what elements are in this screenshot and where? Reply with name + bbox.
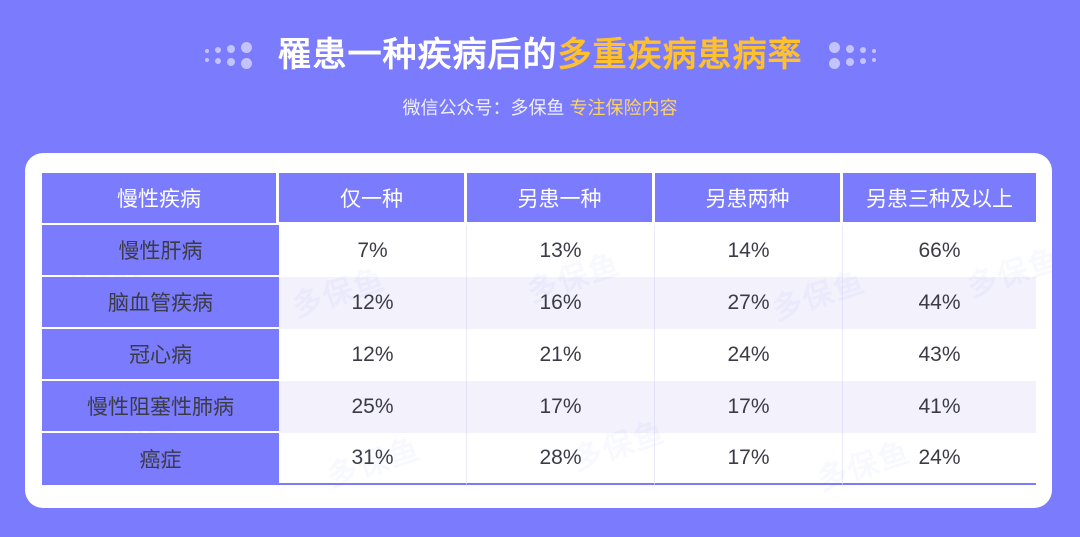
- column-header-disease: 慢性疾病: [42, 173, 279, 225]
- page-title-main: 罹患一种疾病后的: [278, 36, 558, 74]
- table-cell: 14%: [655, 225, 843, 277]
- column-header-plus-two: 另患两种: [655, 173, 843, 225]
- table-cell: 13%: [467, 225, 655, 277]
- row-label: 慢性肝病: [42, 225, 279, 277]
- infographic-page: { "header": { "title_main": "罹患一种疾病后的", …: [0, 0, 1080, 537]
- prevalence-table: 慢性疾病 仅一种 另患一种 另患两种 另患三种及以上 慢性肝病 7% 13% 1…: [42, 173, 1036, 485]
- table-cell: 24%: [843, 433, 1036, 485]
- table-cell: 21%: [467, 329, 655, 381]
- row-label: 脑血管疾病: [42, 277, 279, 329]
- table-cell: 7%: [279, 225, 467, 277]
- decorative-dots-left-icon: [205, 42, 252, 69]
- table-cell: 27%: [655, 277, 843, 329]
- row-label: 冠心病: [42, 329, 279, 381]
- row-label: 癌症: [42, 433, 279, 485]
- table-cell: 31%: [279, 433, 467, 485]
- table-row: 慢性肝病 7% 13% 14% 66%: [42, 225, 1036, 277]
- page-title: 罹患一种疾病后的多重疾病患病率: [278, 33, 803, 77]
- column-header-plus-one: 另患一种: [467, 173, 655, 225]
- table-cell: 17%: [655, 381, 843, 433]
- table-cell: 12%: [279, 277, 467, 329]
- decorative-dots-right-icon: [829, 42, 876, 69]
- column-header-plus-three-or-more: 另患三种及以上: [843, 173, 1036, 225]
- table-cell: 66%: [843, 225, 1036, 277]
- table-cell: 41%: [843, 381, 1036, 433]
- page-title-accent: 多重疾病患病率: [558, 36, 803, 74]
- subtitle-tagline: 专注保险内容: [570, 98, 678, 118]
- table-row: 慢性阻塞性肺病 25% 17% 17% 41%: [42, 381, 1036, 433]
- table-row: 脑血管疾病 12% 16% 27% 44%: [42, 277, 1036, 329]
- table-cell: 43%: [843, 329, 1036, 381]
- header: 罹患一种疾病后的多重疾病患病率 微信公众号：多保鱼 专注保险内容: [0, 0, 1080, 150]
- table-row: 冠心病 12% 21% 24% 43%: [42, 329, 1036, 381]
- column-header-only-one: 仅一种: [279, 173, 467, 225]
- table-cell: 24%: [655, 329, 843, 381]
- title-row: 罹患一种疾病后的多重疾病患病率: [0, 33, 1080, 77]
- row-label: 慢性阻塞性肺病: [42, 381, 279, 433]
- table-cell: 17%: [655, 433, 843, 485]
- table-row: 癌症 31% 28% 17% 24%: [42, 433, 1036, 485]
- table-header-row: 慢性疾病 仅一种 另患一种 另患两种 另患三种及以上: [42, 173, 1036, 225]
- table-cell: 16%: [467, 277, 655, 329]
- subtitle-account: 微信公众号：多保鱼: [402, 98, 564, 118]
- table-cell: 44%: [843, 277, 1036, 329]
- table-cell: 12%: [279, 329, 467, 381]
- subtitle: 微信公众号：多保鱼 专注保险内容: [0, 95, 1080, 121]
- table-cell: 28%: [467, 433, 655, 485]
- table-cell: 25%: [279, 381, 467, 433]
- table-cell: 17%: [467, 381, 655, 433]
- table-card: 多保鱼 多保鱼 多保鱼 多保鱼 多保鱼 多保鱼 多保鱼 多保鱼 多保鱼 慢性疾病…: [25, 153, 1052, 508]
